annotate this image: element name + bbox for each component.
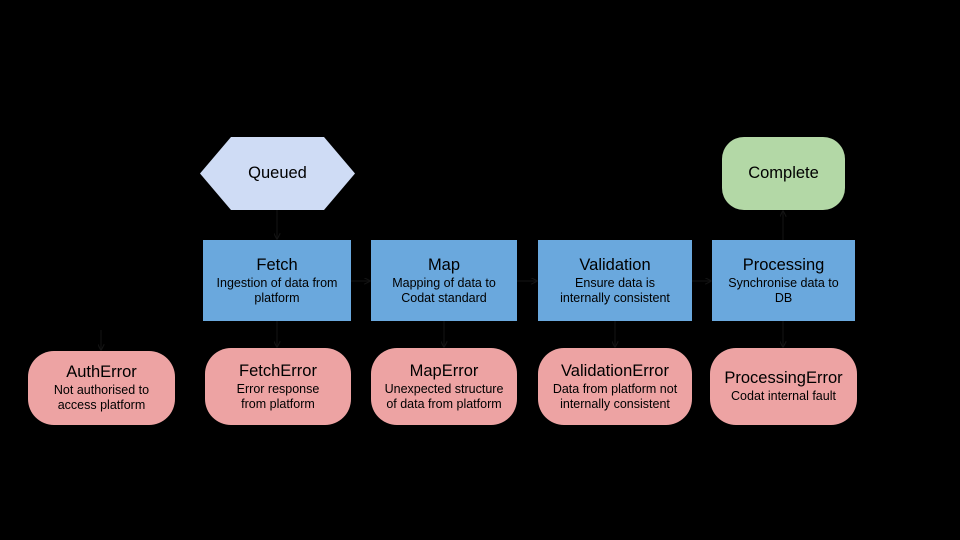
stage-processing-title: Processing — [743, 256, 825, 275]
stage-map-title: Map — [428, 256, 460, 275]
stage-validation-description: Ensure data is internally consistent — [560, 276, 670, 306]
stage-validation-title: Validation — [579, 256, 650, 275]
error-processing-error[interactable]: ProcessingError Codat internal fault — [710, 348, 857, 425]
error-auth-error[interactable]: AuthError Not authorised to access platf… — [28, 351, 175, 425]
error-validation-error-description-line-2: internally consistent — [553, 397, 677, 412]
error-processing-error-description: Codat internal fault — [731, 389, 836, 404]
error-fetch-error-description: Error response from platform — [237, 382, 320, 412]
state-complete[interactable]: Complete — [722, 137, 845, 210]
stage-map-description-line-2: Codat standard — [392, 291, 496, 306]
stage-fetch-description: Ingestion of data from platform — [217, 276, 338, 306]
error-auth-error-title: AuthError — [66, 363, 137, 382]
error-map-error-description-line-1: Unexpected structure — [385, 382, 504, 397]
error-fetch-error[interactable]: FetchError Error response from platform — [205, 348, 351, 425]
diagram-canvas: Queued Complete Fetch Ingestion of data … — [0, 0, 960, 540]
state-complete-label: Complete — [748, 164, 819, 183]
error-fetch-error-description-line-1: Error response — [237, 382, 320, 397]
error-map-error-description: Unexpected structure of data from platfo… — [385, 382, 504, 412]
error-map-error[interactable]: MapError Unexpected structure of data fr… — [371, 348, 517, 425]
stage-map[interactable]: Map Mapping of data to Codat standard — [371, 240, 517, 321]
stage-validation-description-line-1: Ensure data is — [560, 276, 670, 291]
error-auth-error-description-line-1: Not authorised to — [54, 383, 149, 398]
stage-fetch[interactable]: Fetch Ingestion of data from platform — [203, 240, 351, 321]
error-processing-error-description-line-1: Codat internal fault — [731, 389, 836, 404]
error-validation-error-description-line-1: Data from platform not — [553, 382, 677, 397]
stage-fetch-description-line-2: platform — [217, 291, 338, 306]
error-validation-error[interactable]: ValidationError Data from platform not i… — [538, 348, 692, 425]
stage-validation[interactable]: Validation Ensure data is internally con… — [538, 240, 692, 321]
error-processing-error-title: ProcessingError — [724, 369, 842, 388]
error-validation-error-description: Data from platform not internally consis… — [553, 382, 677, 412]
error-validation-error-title: ValidationError — [561, 362, 669, 381]
state-queued-label: Queued — [248, 164, 307, 183]
error-fetch-error-title: FetchError — [239, 362, 317, 381]
error-map-error-description-line-2: of data from platform — [385, 397, 504, 412]
error-fetch-error-description-line-2: from platform — [237, 397, 320, 412]
state-queued[interactable]: Queued — [200, 137, 355, 210]
error-auth-error-description-line-2: access platform — [54, 398, 149, 413]
stage-fetch-description-line-1: Ingestion of data from — [217, 276, 338, 291]
stage-processing[interactable]: Processing Synchronise data to DB — [712, 240, 855, 321]
stage-processing-description-line-2: DB — [728, 291, 839, 306]
error-auth-error-description: Not authorised to access platform — [54, 383, 149, 413]
stage-map-description: Mapping of data to Codat standard — [392, 276, 496, 306]
stage-processing-description-line-1: Synchronise data to — [728, 276, 839, 291]
error-map-error-title: MapError — [410, 362, 479, 381]
stage-validation-description-line-2: internally consistent — [560, 291, 670, 306]
stage-fetch-title: Fetch — [256, 256, 297, 275]
stage-processing-description: Synchronise data to DB — [728, 276, 839, 306]
stage-map-description-line-1: Mapping of data to — [392, 276, 496, 291]
